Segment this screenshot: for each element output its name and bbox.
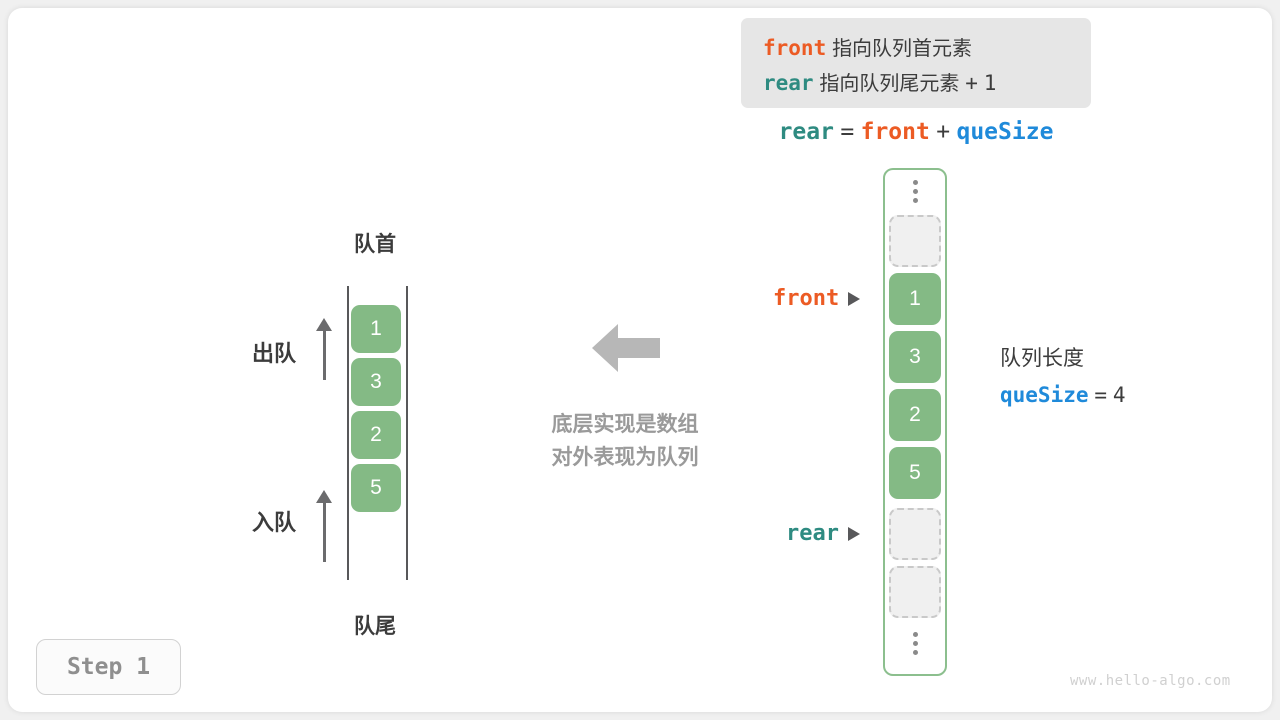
queue-cell: 1 [351,305,401,353]
step-badge: Step 1 [36,639,181,695]
queue-size-info: 队列长度 queSize = 4 [1000,340,1126,414]
queue-size-label: 队列长度 [1000,340,1126,377]
quesize-var: queSize [1000,383,1089,407]
left-arrow-icon [592,322,660,374]
array-slot-filled: 1 [889,273,941,325]
legend-line-front: front 指向队列首元素 [763,31,1091,66]
legend-front-term: front [763,36,826,60]
array-slot-filled: 5 [889,447,941,499]
quesize-equals: = [1094,383,1107,407]
vertical-ellipsis-icon [910,632,920,655]
queue-front-label: 队首 [295,228,455,258]
formula-front: front [861,119,930,145]
queue-cell: 2 [351,411,401,459]
legend-front-text: 指向队列首元素 [832,38,972,60]
formula-plus: + [936,119,950,145]
queue-cell: 5 [351,464,401,512]
queue-size-expression: queSize = 4 [1000,377,1126,414]
implementation-caption: 底层实现是数组 对外表现为队列 [505,408,745,474]
legend-rear-plus: + [965,71,978,95]
pointer-triangle-icon [848,527,860,541]
formula-equals: = [840,119,854,145]
front-pointer-label: front [773,286,839,311]
queue-rail-left [347,286,349,580]
queue-cell: 3 [351,358,401,406]
dequeue-label: 出队 [252,336,296,368]
array-slot-empty [889,566,941,618]
caption-line-2: 对外表现为队列 [505,441,745,474]
enqueue-label: 入队 [252,505,296,537]
quesize-value: 4 [1113,383,1126,407]
dequeue-arrow-icon [313,318,337,380]
enqueue-arrow-icon [313,490,337,562]
legend-line-rear: rear 指向队列尾元素 + 1 [763,66,1091,101]
formula-quesize: queSize [956,119,1053,145]
legend-rear-term: rear [763,71,814,95]
legend-rear-text: 指向队列尾元素 [819,73,959,95]
array-slot-filled: 3 [889,331,941,383]
pointer-legend-box: front 指向队列首元素 rear 指向队列尾元素 + 1 [741,18,1091,108]
caption-line-1: 底层实现是数组 [505,408,745,441]
array-slot-filled: 2 [889,389,941,441]
queue-rail-right [406,286,408,580]
front-pointer: front [773,286,860,311]
vertical-ellipsis-icon [910,180,920,203]
queue-rear-label: 队尾 [295,610,455,640]
pointer-triangle-icon [848,292,860,306]
diagram-canvas: front 指向队列首元素 rear 指向队列尾元素 + 1 rear = fr… [0,0,1280,720]
array-slot-empty [889,215,941,267]
rear-pointer: rear [786,521,860,546]
rear-pointer-label: rear [786,521,839,546]
rear-formula: rear = front + queSize [741,118,1091,145]
formula-rear: rear [779,119,834,145]
legend-rear-one: 1 [984,71,997,95]
array-slot-empty [889,508,941,560]
watermark: www.hello-algo.com [1070,673,1231,689]
